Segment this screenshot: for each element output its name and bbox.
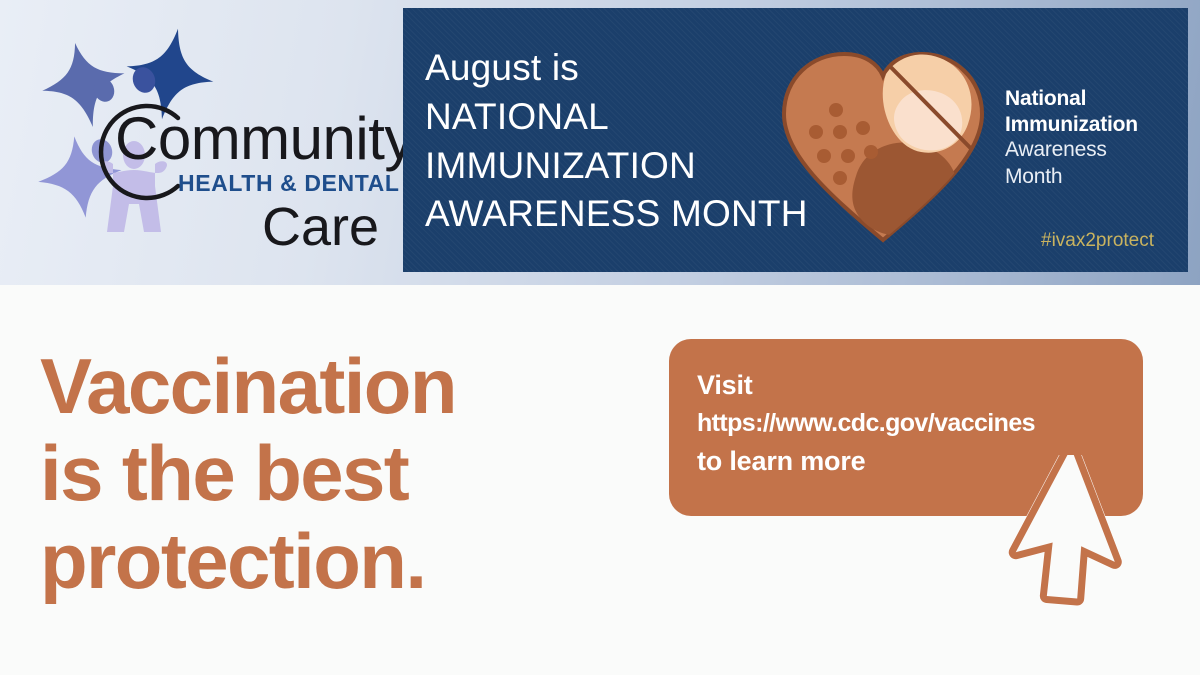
niam-hashtag: #ivax2protect (1041, 230, 1154, 252)
niam-navy-banner: August is NATIONAL IMMUNIZATION AWARENES… (403, 8, 1188, 272)
logo-text-care: Care (262, 196, 379, 258)
niam-lockup-bold-line-2: Immunization (1005, 112, 1138, 138)
callout-line-learn-more: to learn more (697, 442, 1035, 481)
niam-lockup-regular-line-2: Month (1005, 164, 1138, 190)
banner-headline-line-4: AWARENESS MONTH (425, 190, 808, 239)
niam-lockup-regular-line-1: Awareness (1005, 137, 1138, 163)
logo-text-health-and-dental: HEALTH & DENTAL (178, 170, 400, 197)
main-headline-line-3: protection. (40, 518, 456, 605)
poster-canvas: Community HEALTH & DENTAL Care August is… (0, 0, 1200, 675)
mouse-pointer-arrow-icon (995, 455, 1160, 615)
callout-text: Visit https://www.cdc.gov/vaccines to le… (697, 366, 1035, 481)
bottom-accent-bar (0, 660, 1200, 675)
logo-text-community: Community (115, 104, 414, 173)
banner-headline-line-1: August is (425, 44, 808, 93)
banner-headline-line-3: IMMUNIZATION (425, 142, 808, 191)
niam-lockup-text: National Immunization Awareness Month (1005, 86, 1138, 190)
banner-headline: August is NATIONAL IMMUNIZATION AWARENES… (425, 44, 808, 239)
callout-line-url[interactable]: https://www.cdc.gov/vaccines (697, 405, 1035, 442)
main-headline-line-1: Vaccination (40, 343, 456, 430)
banner-headline-line-2: NATIONAL (425, 93, 808, 142)
community-health-dental-care-logo: Community HEALTH & DENTAL Care (18, 18, 393, 268)
main-headline-line-2: is the best (40, 430, 456, 517)
callout-line-visit: Visit (697, 366, 1035, 405)
main-headline: Vaccination is the best protection. (40, 343, 456, 605)
niam-lockup-bold-line-1: National (1005, 86, 1138, 112)
